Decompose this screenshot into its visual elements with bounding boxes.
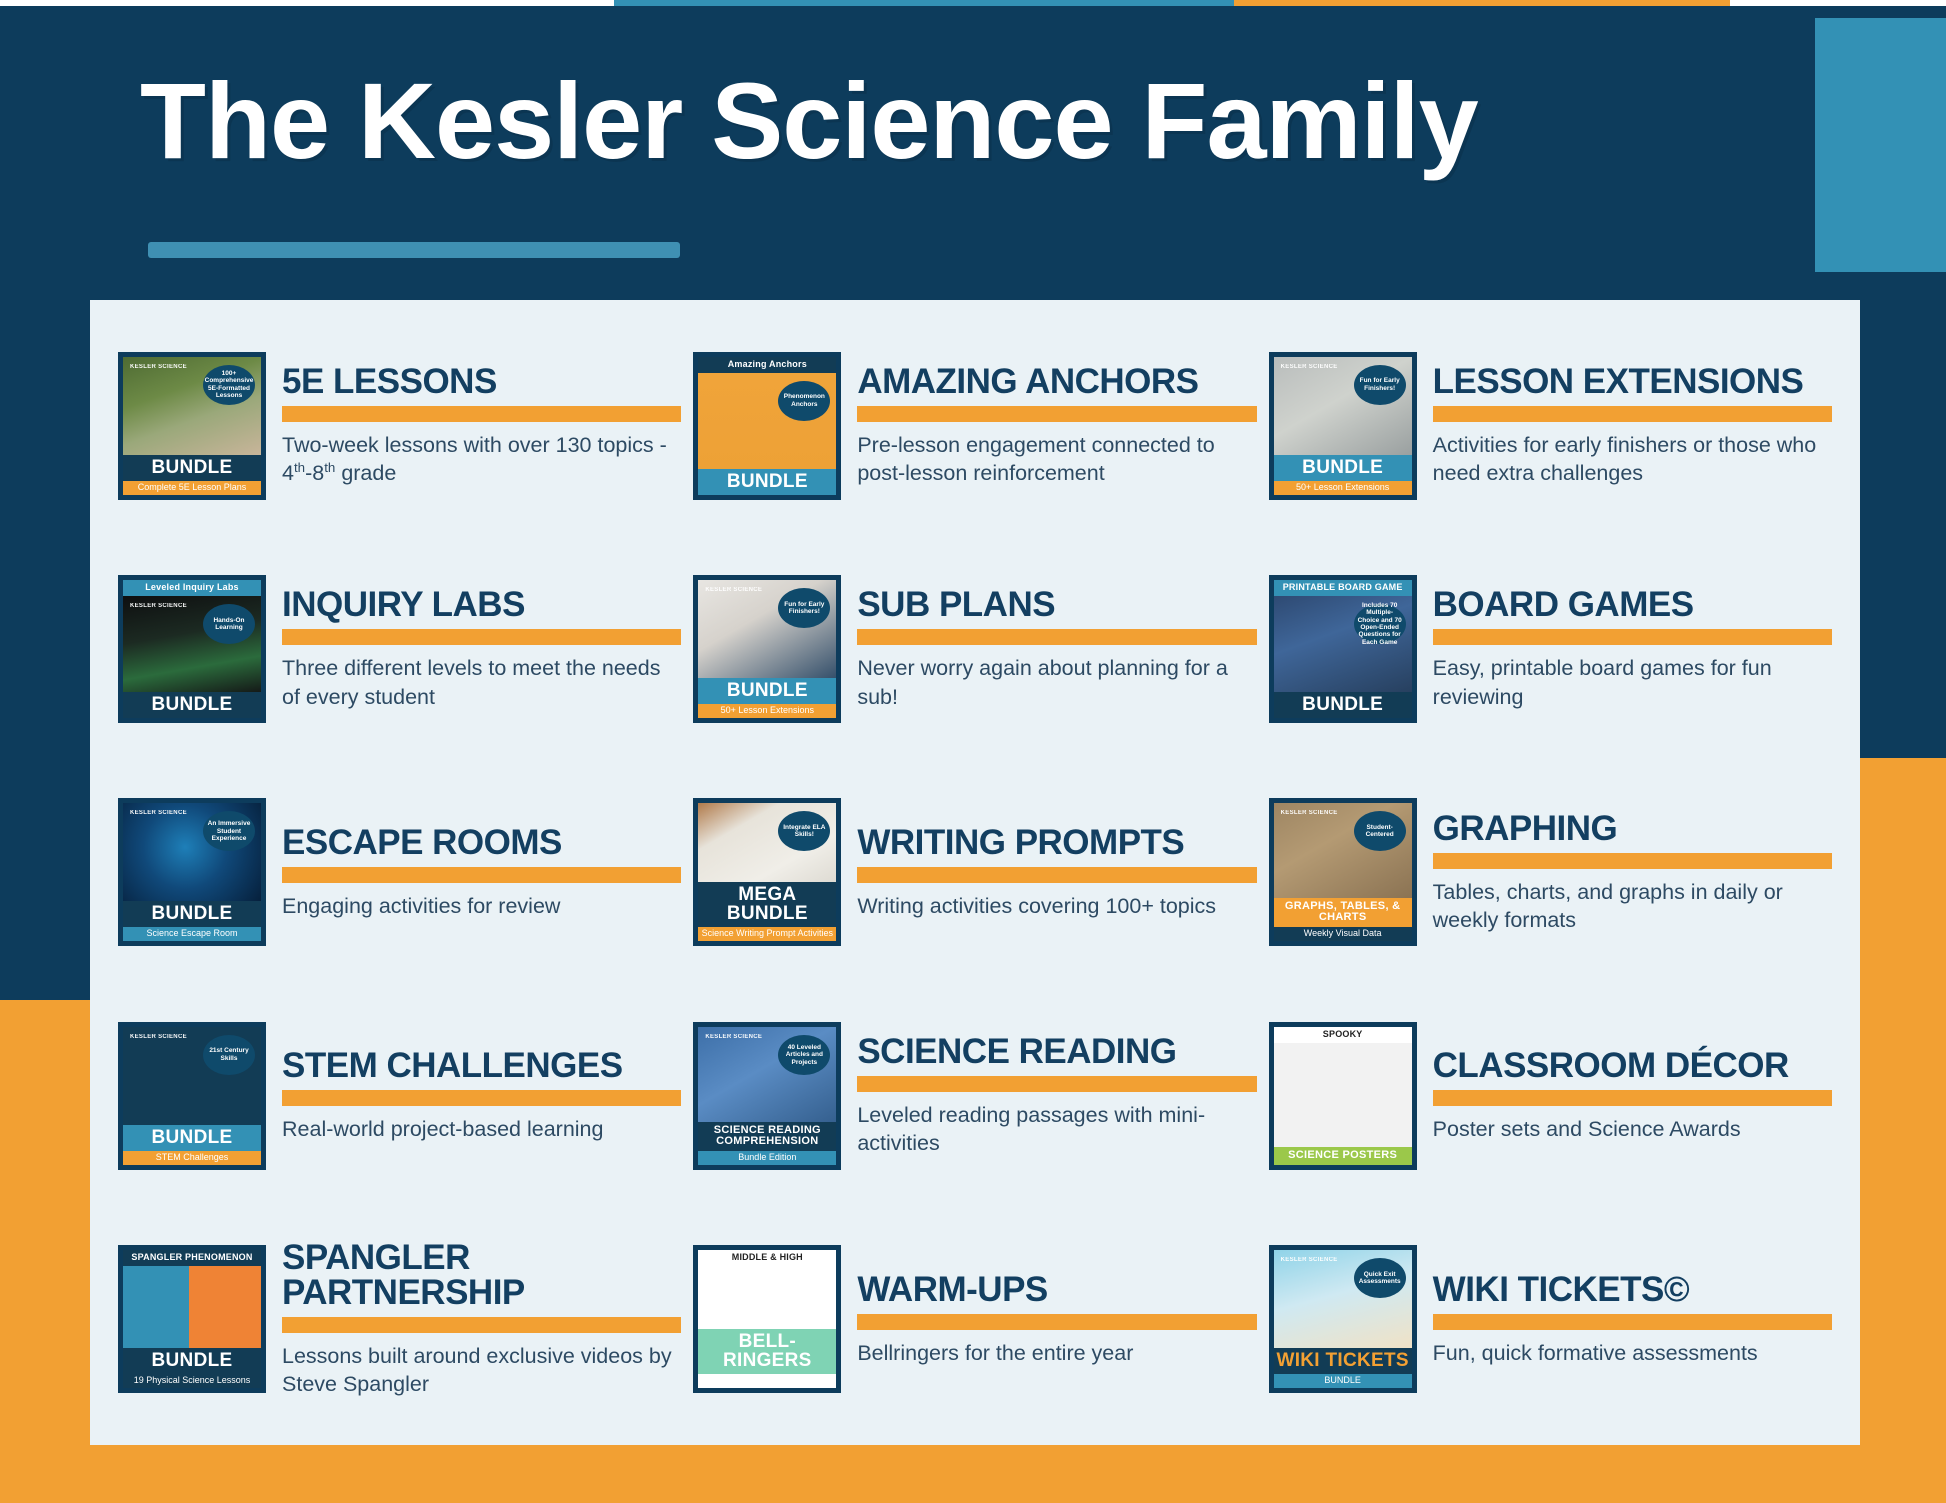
product-description: Two-week lessons with over 130 topics - … (282, 431, 681, 488)
kesler-science-logo-icon: KESLER SCIENCE (130, 603, 187, 609)
product-item[interactable]: KESLER SCIENCEStudent-CenteredGRAPHS, TA… (1263, 761, 1838, 984)
thumbnail-top-label: Leveled Inquiry Labs (123, 580, 261, 596)
kesler-science-logo-icon: KESLER SCIENCE (1281, 810, 1338, 816)
product-thumbnail: KESLER SCIENCEQuick Exit AssessmentsWIKI… (1269, 1245, 1417, 1393)
product-thumbnail: KESLER SCIENCE100+ Comprehensive 5E-Form… (118, 352, 266, 500)
thumbnail-badge: Fun for Early Finishers! (778, 588, 830, 628)
product-description: Poster sets and Science Awards (1433, 1115, 1832, 1143)
product-description: Fun, quick formative assessments (1433, 1339, 1832, 1367)
thumbnail-artwork: Integrate ELA Skills! (698, 803, 836, 882)
product-item[interactable]: KESLER SCIENCE21st Century SkillsBUNDLES… (112, 984, 687, 1207)
thumbnail-artwork: KESLER SCIENCE21st Century Skills (123, 1027, 261, 1125)
product-description: Lessons built around exclusive videos by… (282, 1342, 681, 1399)
product-thumbnail: KESLER SCIENCE21st Century SkillsBUNDLES… (118, 1022, 266, 1170)
thumbnail-badge: Fun for Early Finishers! (1354, 365, 1406, 405)
product-text: GRAPHINGTables, charts, and graphs in da… (1433, 811, 1832, 935)
product-description: Never worry again about planning for a s… (857, 654, 1256, 711)
thumbnail-artwork: KESLER SCIENCEStudent-Centered (1274, 803, 1412, 898)
product-heading: LESSON EXTENSIONS (1433, 364, 1832, 399)
product-text: AMAZING ANCHORSPre-lesson engagement con… (857, 364, 1256, 488)
product-accent-rule (857, 629, 1256, 645)
product-thumbnail: MIDDLE & HIGHBELL-RINGERSFULL YEAR RESOU… (693, 1245, 841, 1393)
kesler-science-logo-icon: KESLER SCIENCE (130, 810, 187, 816)
product-description: Easy, printable board games for fun revi… (1433, 654, 1832, 711)
thumbnail-artwork: KESLER SCIENCEFun for Early Finishers! (1274, 357, 1412, 455)
product-heading: SCIENCE READING (857, 1034, 1256, 1069)
product-description: Bellringers for the entire year (857, 1339, 1256, 1367)
kesler-science-logo-icon: KESLER SCIENCE (130, 364, 187, 370)
thumbnail-bundle-band: BUNDLE (123, 1125, 261, 1151)
product-accent-rule (282, 629, 681, 645)
thumbnail-artwork: KESLER SCIENCEAn Immersive Student Exper… (123, 803, 261, 901)
products-card: KESLER SCIENCE100+ Comprehensive 5E-Form… (90, 300, 1860, 1445)
thumbnail-artwork: KESLER SCIENCE100+ Comprehensive 5E-Form… (123, 357, 261, 455)
product-thumbnail: KESLER SCIENCE40 Leveled Articles and Pr… (693, 1022, 841, 1170)
thumbnail-bundle-band: BUNDLE (123, 1348, 261, 1374)
kesler-science-logo-icon: KESLER SCIENCE (130, 1034, 187, 1040)
thumbnail-badge: Student-Centered (1354, 811, 1406, 851)
product-description: Tables, charts, and graphs in daily or w… (1433, 878, 1832, 935)
product-text: BOARD GAMESEasy, printable board games f… (1433, 587, 1832, 711)
product-item[interactable]: SPANGLER PHENOMENONBUNDLE19 Physical Sci… (112, 1208, 687, 1431)
page-header: The Kesler Science Family (0, 6, 1815, 291)
thumbnail-top-label: SPOOKY (1274, 1027, 1412, 1043)
thumbnail-bundle-band: MEGA BUNDLE (698, 882, 836, 927)
product-heading: GRAPHING (1433, 811, 1832, 846)
product-accent-rule (282, 406, 681, 422)
thumbnail-sub-label: 50+ Lesson Extensions (698, 704, 836, 718)
product-thumbnail: Integrate ELA Skills!MEGA BUNDLEScience … (693, 798, 841, 946)
product-thumbnail: Amazing AnchorsPhenomenon AnchorsBUNDLE (693, 352, 841, 500)
thumbnail-bundle-band: BUNDLE (698, 469, 836, 495)
product-heading: STEM CHALLENGES (282, 1048, 681, 1083)
product-heading: CLASSROOM DÉCOR (1433, 1048, 1832, 1083)
thumbnail-bundle-band: BUNDLE (1274, 692, 1412, 718)
thumbnail-artwork: Includes 70 Multiple-Choice and 70 Open-… (1274, 596, 1412, 692)
thumbnail-bundle-band: BUNDLE (123, 901, 261, 927)
thumbnail-bundle-band: BELL-RINGERS (698, 1329, 836, 1374)
thumbnail-badge: Hands-On Learning (203, 604, 255, 644)
product-thumbnail: KESLER SCIENCEAn Immersive Student Exper… (118, 798, 266, 946)
thumbnail-bundle-band: BUNDLE (698, 678, 836, 704)
product-text: 5E LESSONSTwo-week lessons with over 130… (282, 364, 681, 488)
kesler-science-logo-icon: KESLER SCIENCE (705, 587, 762, 593)
product-item[interactable]: Leveled Inquiry LabsKESLER SCIENCEHands-… (112, 537, 687, 760)
product-thumbnail: Leveled Inquiry LabsKESLER SCIENCEHands-… (118, 575, 266, 723)
product-description: Pre-lesson engagement connected to post-… (857, 431, 1256, 488)
product-accent-rule (282, 1090, 681, 1106)
product-thumbnail: PRINTABLE BOARD GAMEIncludes 70 Multiple… (1269, 575, 1417, 723)
products-grid: KESLER SCIENCE100+ Comprehensive 5E-Form… (90, 300, 1860, 1445)
thumbnail-artwork (698, 1266, 836, 1329)
thumbnail-artwork: Phenomenon Anchors (698, 373, 836, 469)
product-description: Activities for early finishers or those … (1433, 431, 1832, 488)
thumbnail-top-label: MIDDLE & HIGH (698, 1250, 836, 1266)
product-heading: ESCAPE ROOMS (282, 825, 681, 860)
thumbnail-bundle-band: BUNDLE (123, 692, 261, 718)
product-thumbnail: KESLER SCIENCEStudent-CenteredGRAPHS, TA… (1269, 798, 1417, 946)
product-item[interactable]: SPOOKYSCIENCE POSTERSCLASSROOM DÉCORPost… (1263, 984, 1838, 1207)
product-text: SCIENCE READINGLeveled reading passages … (857, 1034, 1256, 1158)
product-text: WARM-UPSBellringers for the entire year (857, 1272, 1256, 1367)
product-item[interactable]: KESLER SCIENCEFun for Early Finishers!BU… (687, 537, 1262, 760)
thumbnail-top-label: PRINTABLE BOARD GAME (1274, 580, 1412, 596)
product-heading: WRITING PROMPTS (857, 825, 1256, 860)
product-heading: WIKI TICKETS© (1433, 1272, 1832, 1307)
product-text: INQUIRY LABSThree different levels to me… (282, 587, 681, 711)
product-description: Leveled reading passages with mini-activ… (857, 1101, 1256, 1158)
product-heading: SPANGLER PARTNERSHIP (282, 1240, 681, 1310)
thumbnail-sub-label: Weekly Visual Data (1274, 927, 1412, 941)
kesler-science-logo-icon: KESLER SCIENCE (1281, 364, 1338, 370)
thumbnail-sub-label: Science Writing Prompt Activities (698, 927, 836, 941)
product-description: Real-world project-based learning (282, 1115, 681, 1143)
product-accent-rule (1433, 1090, 1832, 1106)
product-text: WIKI TICKETS©Fun, quick formative assess… (1433, 1272, 1832, 1367)
title-underline-rule (148, 242, 680, 258)
thumbnail-sub-label: Science Escape Room (123, 927, 261, 941)
thumbnail-badge: 21st Century Skills (203, 1035, 255, 1075)
product-heading: WARM-UPS (857, 1272, 1256, 1307)
background-teal-accent (1815, 18, 1946, 272)
product-thumbnail: SPOOKYSCIENCE POSTERS (1269, 1022, 1417, 1170)
product-text: WRITING PROMPTSWriting activities coveri… (857, 825, 1256, 920)
product-accent-rule (282, 1317, 681, 1333)
product-accent-rule (857, 406, 1256, 422)
thumbnail-badge: Quick Exit Assessments (1354, 1258, 1406, 1298)
product-text: SPANGLER PARTNERSHIPLessons built around… (282, 1240, 681, 1399)
thumbnail-badge: Integrate ELA Skills! (778, 811, 830, 851)
product-accent-rule (282, 867, 681, 883)
product-heading: INQUIRY LABS (282, 587, 681, 622)
thumbnail-bundle-band: SCIENCE POSTERS (1274, 1147, 1412, 1165)
product-accent-rule (1433, 406, 1832, 422)
thumbnail-sub-label: Complete 5E Lesson Plans (123, 481, 261, 495)
product-item[interactable]: PRINTABLE BOARD GAMEIncludes 70 Multiple… (1263, 537, 1838, 760)
product-item[interactable]: KESLER SCIENCE100+ Comprehensive 5E-Form… (112, 314, 687, 537)
thumbnail-artwork: KESLER SCIENCEHands-On Learning (123, 596, 261, 692)
product-accent-rule (857, 1314, 1256, 1330)
thumbnail-sub-label: BUNDLE (1274, 1374, 1412, 1388)
product-text: SUB PLANSNever worry again about plannin… (857, 587, 1256, 711)
product-accent-rule (857, 1076, 1256, 1092)
product-item[interactable]: Integrate ELA Skills!MEGA BUNDLEScience … (687, 761, 1262, 984)
thumbnail-badge: An Immersive Student Experience (203, 811, 255, 851)
product-thumbnail: KESLER SCIENCEFun for Early Finishers!BU… (693, 575, 841, 723)
thumbnail-artwork (123, 1266, 261, 1348)
thumbnail-sub-label: FULL YEAR RESOURCE (698, 1374, 836, 1388)
product-accent-rule (1433, 1314, 1832, 1330)
thumbnail-sub-label: 50+ Lesson Extensions (1274, 481, 1412, 495)
thumbnail-bundle-band: BUNDLE (1274, 455, 1412, 481)
product-accent-rule (1433, 853, 1832, 869)
thumbnail-sub-label: STEM Challenges (123, 1151, 261, 1165)
product-item[interactable]: KESLER SCIENCEQuick Exit AssessmentsWIKI… (1263, 1208, 1838, 1431)
product-thumbnail: SPANGLER PHENOMENONBUNDLE19 Physical Sci… (118, 1245, 266, 1393)
thumbnail-artwork: KESLER SCIENCEQuick Exit Assessments (1274, 1250, 1412, 1348)
product-text: STEM CHALLENGESReal-world project-based … (282, 1048, 681, 1143)
product-heading: AMAZING ANCHORS (857, 364, 1256, 399)
product-description: Engaging activities for review (282, 892, 681, 920)
thumbnail-artwork: KESLER SCIENCE40 Leveled Articles and Pr… (698, 1027, 836, 1122)
product-description: Writing activities covering 100+ topics (857, 892, 1256, 920)
product-item[interactable]: MIDDLE & HIGHBELL-RINGERSFULL YEAR RESOU… (687, 1208, 1262, 1431)
product-text: ESCAPE ROOMSEngaging activities for revi… (282, 825, 681, 920)
kesler-science-logo-icon: KESLER SCIENCE (705, 1034, 762, 1040)
thumbnail-artwork (1274, 1043, 1412, 1147)
thumbnail-sub-label: Bundle Edition (698, 1151, 836, 1165)
thumbnail-badge: Includes 70 Multiple-Choice and 70 Open-… (1354, 604, 1406, 644)
thumbnail-bundle-band: GRAPHS, TABLES, & CHARTS (1274, 898, 1412, 927)
product-heading: SUB PLANS (857, 587, 1256, 622)
product-thumbnail: KESLER SCIENCEFun for Early Finishers!BU… (1269, 352, 1417, 500)
product-description: Three different levels to meet the needs… (282, 654, 681, 711)
kesler-science-logo-icon: KESLER SCIENCE (1281, 1257, 1338, 1263)
thumbnail-bundle-band: BUNDLE (123, 455, 261, 481)
thumbnail-bundle-band: WIKI TICKETS (1274, 1348, 1412, 1374)
thumbnail-sub-label: 19 Physical Science Lessons (123, 1374, 261, 1388)
product-heading: 5E LESSONS (282, 364, 681, 399)
product-accent-rule (857, 867, 1256, 883)
page-title: The Kesler Science Family (140, 64, 1478, 177)
thumbnail-artwork: KESLER SCIENCEFun for Early Finishers! (698, 580, 836, 678)
thumbnail-bundle-band: SCIENCE READING COMPREHENSION (698, 1122, 836, 1151)
product-accent-rule (1433, 629, 1832, 645)
thumbnail-badge: 40 Leveled Articles and Projects (778, 1035, 830, 1075)
thumbnail-badge: 100+ Comprehensive 5E-Formatted Lessons (203, 365, 255, 405)
product-text: LESSON EXTENSIONSActivities for early fi… (1433, 364, 1832, 488)
product-item[interactable]: KESLER SCIENCE40 Leveled Articles and Pr… (687, 984, 1262, 1207)
product-item[interactable]: KESLER SCIENCEFun for Early Finishers!BU… (1263, 314, 1838, 537)
product-item[interactable]: Amazing AnchorsPhenomenon AnchorsBUNDLEA… (687, 314, 1262, 537)
product-text: CLASSROOM DÉCORPoster sets and Science A… (1433, 1048, 1832, 1143)
product-heading: BOARD GAMES (1433, 587, 1832, 622)
thumbnail-badge: Phenomenon Anchors (778, 381, 830, 421)
thumbnail-top-label: SPANGLER PHENOMENON (123, 1250, 261, 1266)
product-item[interactable]: KESLER SCIENCEAn Immersive Student Exper… (112, 761, 687, 984)
thumbnail-top-label: Amazing Anchors (698, 357, 836, 373)
